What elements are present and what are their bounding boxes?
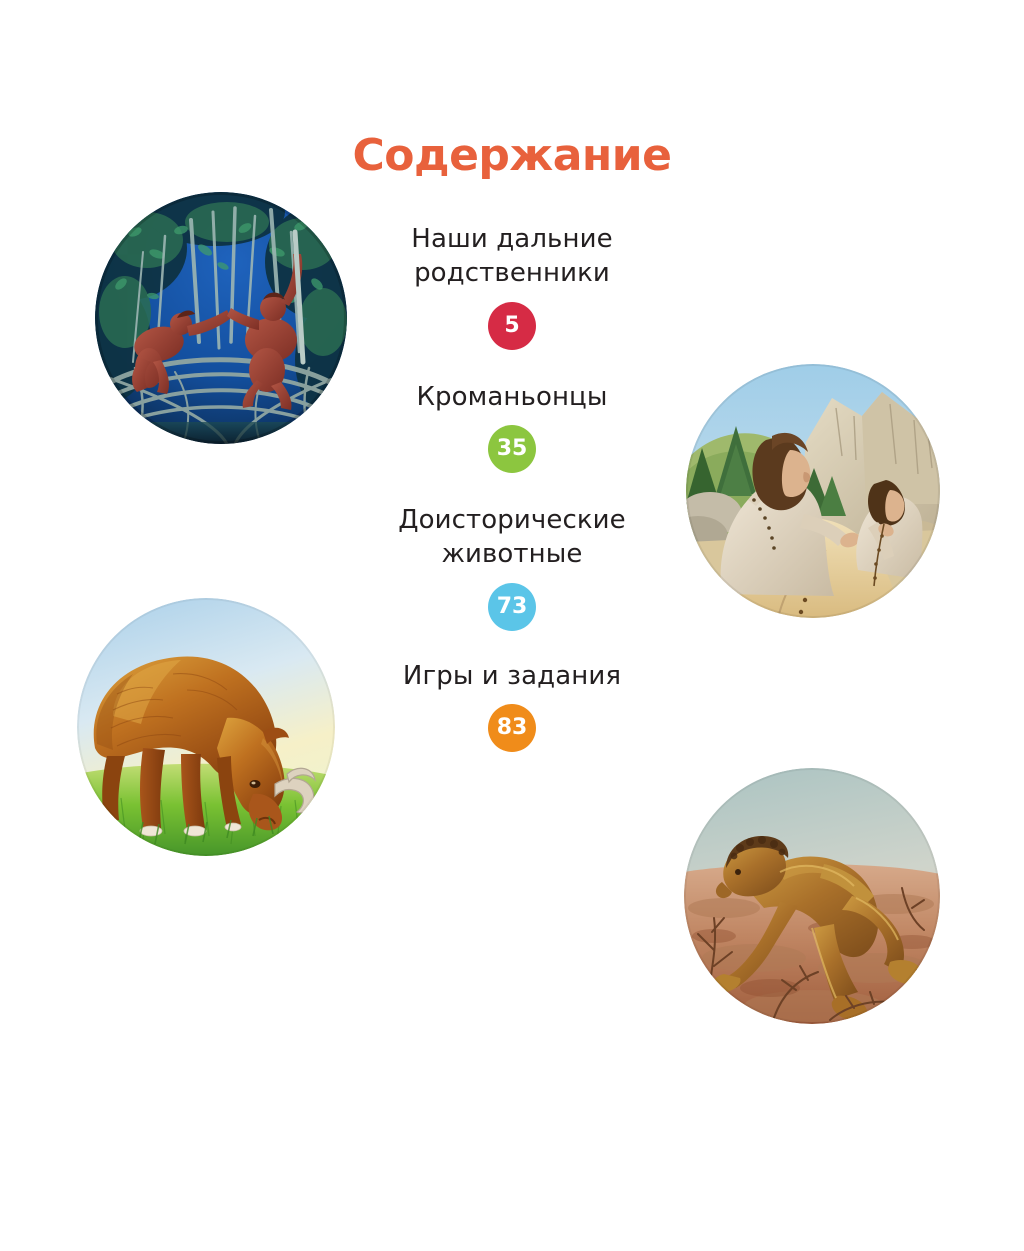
toc-entry-line-2: родственники [414, 258, 610, 288]
toc-entry-games[interactable]: Игры и задания 83 [362, 659, 662, 752]
toc-entry-line-1: Наши дальние [411, 224, 612, 254]
games-illustration-clip [684, 768, 940, 1024]
toc-entry-label-games: Игры и задания [362, 659, 662, 693]
toc-entry-label-prehistoric-animals: Доисторические животные [362, 503, 662, 572]
toc-page-badge-ancestors[interactable]: 5 [488, 302, 536, 350]
toc-entry-line-1: Доисторические [398, 505, 626, 535]
ancestors-illustration-clip [95, 192, 347, 444]
toc-entry-line-1: Кроманьонцы [417, 382, 608, 412]
toc-entry-ancestors[interactable]: Наши дальние родственники 5 [362, 222, 662, 350]
toc-page-badge-games[interactable]: 83 [488, 704, 536, 752]
games-illustration [684, 768, 940, 1024]
prehistoric-animal-illustration-clip [77, 598, 335, 856]
toc-page-badge-prehistoric-animals[interactable]: 73 [488, 583, 536, 631]
toc-entry-line-1: Игры и задания [403, 661, 621, 691]
toc-entry-prehistoric-animals[interactable]: Доисторические животные 73 [362, 503, 662, 631]
ancestors-illustration [95, 192, 347, 444]
cromagnon-illustration-clip [686, 364, 940, 618]
page-title: Содержание [0, 132, 1024, 180]
table-of-contents-list: Наши дальние родственники 5 Кроманьонцы … [362, 222, 662, 752]
toc-page-badge-cromagnon[interactable]: 35 [488, 425, 536, 473]
toc-entry-cromagnon[interactable]: Кроманьонцы 35 [362, 380, 662, 473]
table-of-contents-page: Содержание [0, 0, 1024, 1251]
toc-entry-label-ancestors: Наши дальние родственники [362, 222, 662, 291]
cromagnon-illustration [686, 364, 940, 618]
toc-entry-label-cromagnon: Кроманьонцы [362, 380, 662, 414]
prehistoric-animal-illustration [77, 598, 335, 856]
toc-entry-line-2: животные [441, 539, 582, 569]
